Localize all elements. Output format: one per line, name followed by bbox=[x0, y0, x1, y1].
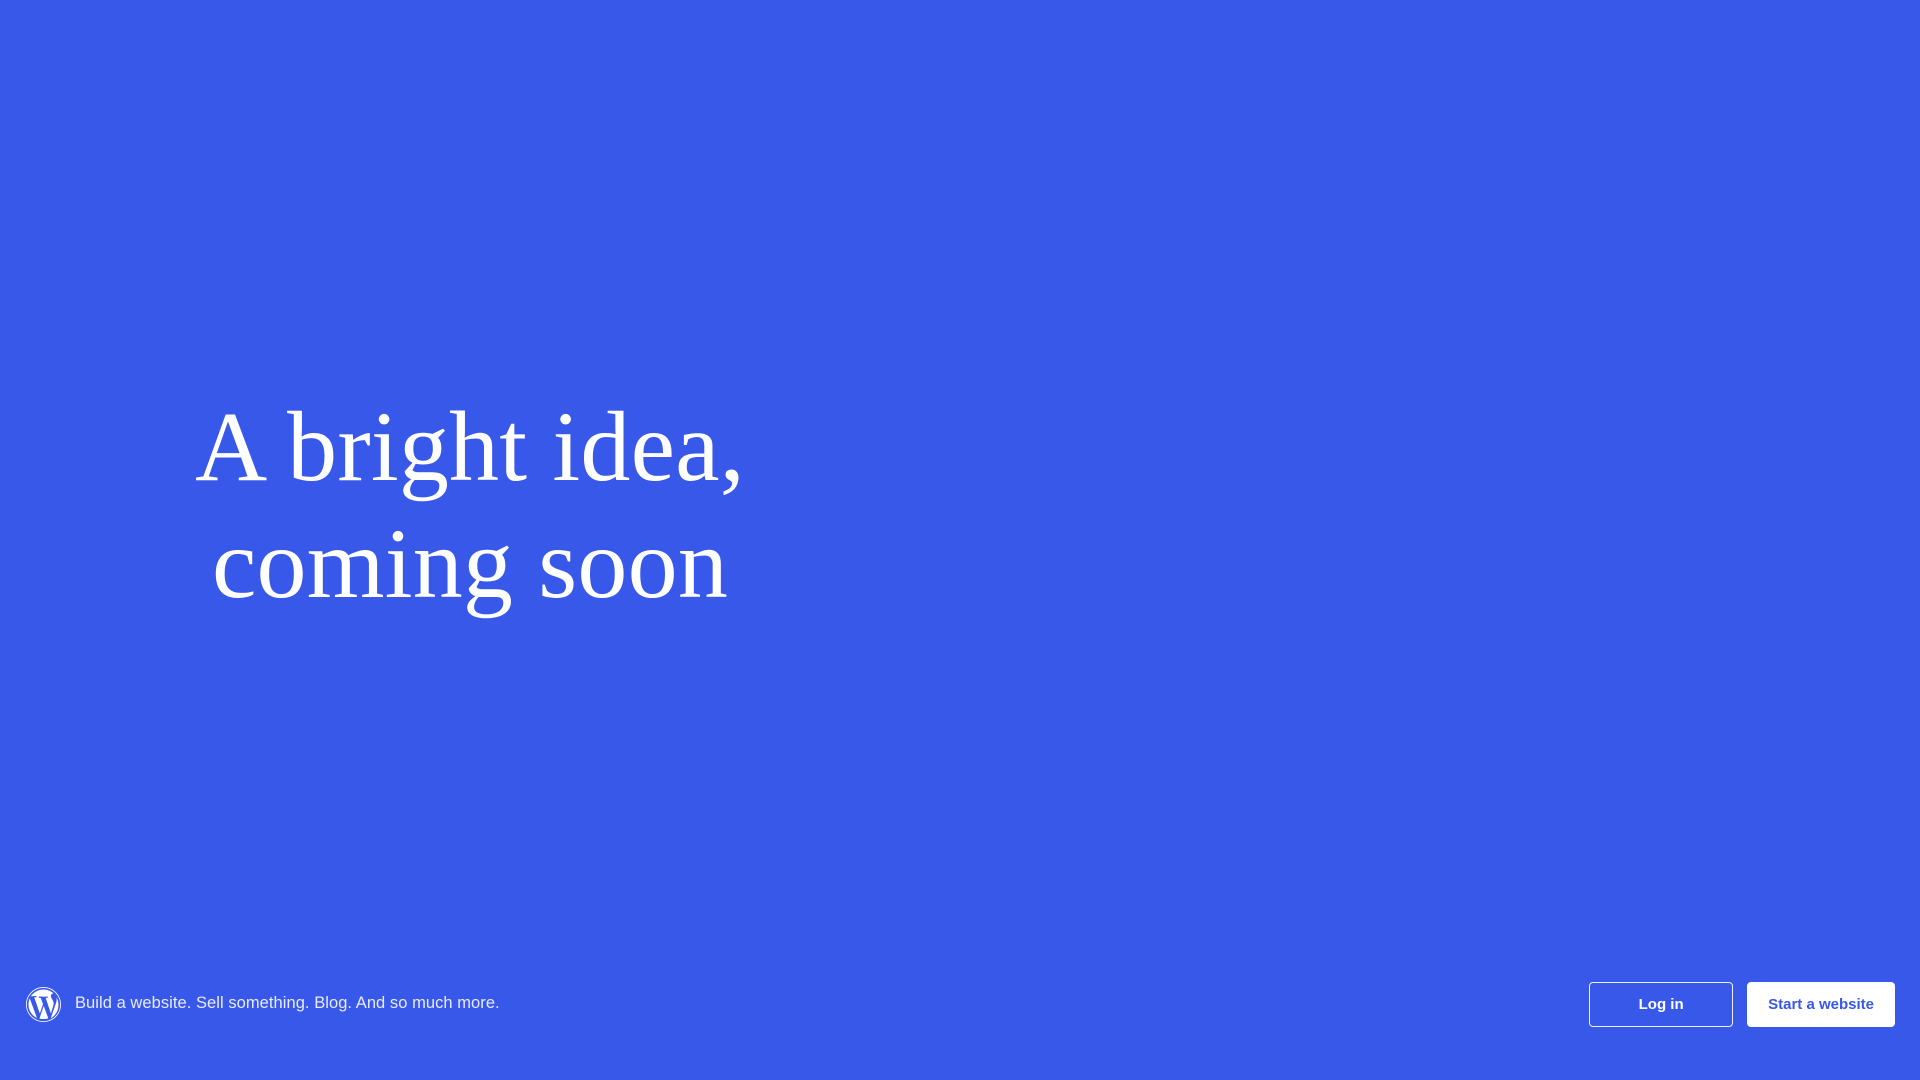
wordpress-logo-icon bbox=[26, 987, 61, 1022]
start-a-website-button[interactable]: Start a website bbox=[1747, 982, 1895, 1027]
footer-branding: Build a website. Sell something. Blog. A… bbox=[26, 987, 500, 1022]
footer-bar: Build a website. Sell something. Blog. A… bbox=[0, 964, 1920, 1080]
hero-section: A bright idea, coming soon bbox=[0, 0, 1920, 1080]
coming-soon-page: A bright idea, coming soon Build a websi… bbox=[0, 0, 1920, 1080]
log-in-button[interactable]: Log in bbox=[1589, 982, 1733, 1027]
footer-actions: Log in Start a website bbox=[1589, 982, 1895, 1027]
footer-tagline: Build a website. Sell something. Blog. A… bbox=[75, 993, 500, 1014]
page-title: A bright idea, coming soon bbox=[150, 388, 790, 622]
